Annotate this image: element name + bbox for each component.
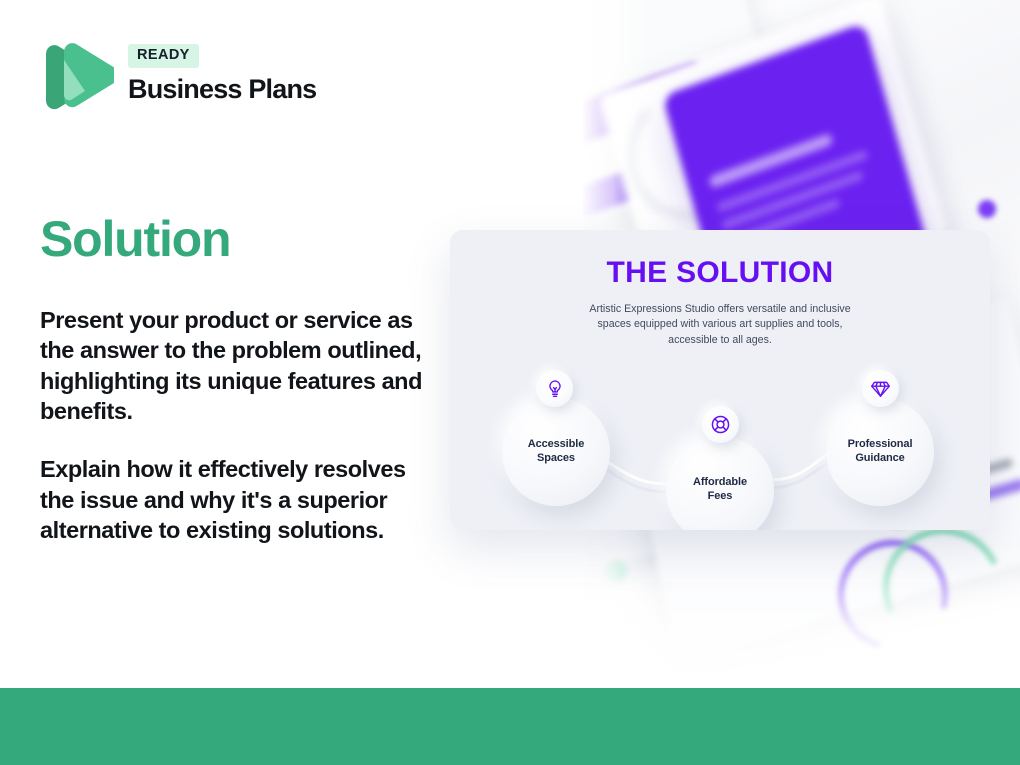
photo-fade-bottom [583, 538, 1020, 688]
bubble-professional-guidance[interactable]: Professional Guidance [826, 398, 934, 506]
bubble-affordable-fees[interactable]: Affordable Fees [666, 436, 774, 530]
footer-accent-bar [0, 688, 1020, 765]
bubble-accessible-spaces[interactable]: Accessible Spaces [502, 398, 610, 506]
bubble-label-line2: Spaces [537, 452, 575, 464]
bubble-label: Accessible Spaces [528, 438, 584, 466]
bubble-label-line2: Guidance [855, 452, 904, 464]
background-accent-dot [978, 200, 996, 218]
bubble-label-line2: Fees [708, 490, 733, 502]
diamond-icon [862, 370, 899, 407]
bubble-label: Affordable Fees [693, 476, 747, 504]
paragraph-1: Present your product or service as the a… [40, 305, 440, 426]
bubble-label-line1: Professional [848, 438, 913, 450]
brand-name: Business Plans [128, 75, 316, 103]
solution-preview-card: THE SOLUTION Artistic Expressions Studio… [450, 230, 990, 530]
page-title: Solution [40, 214, 230, 264]
paragraph-2: Explain how it effectively resolves the … [40, 454, 440, 545]
donut-chart-icon [702, 406, 739, 443]
slide-canvas: READY Business Plans Solution Present yo… [0, 0, 1020, 765]
bubble-label-line1: Accessible [528, 438, 584, 450]
bubble-label-line1: Affordable [693, 476, 747, 488]
double-play-triangle-logo-icon [40, 38, 114, 116]
brand-lockup: READY Business Plans [40, 38, 316, 116]
ready-badge: READY [128, 44, 199, 68]
lightbulb-icon [536, 370, 573, 407]
feature-bubbles: Accessible Spaces Affordable Fees [450, 230, 990, 530]
body-copy: Present your product or service as the a… [40, 305, 440, 545]
bubble-label: Professional Guidance [848, 438, 913, 466]
